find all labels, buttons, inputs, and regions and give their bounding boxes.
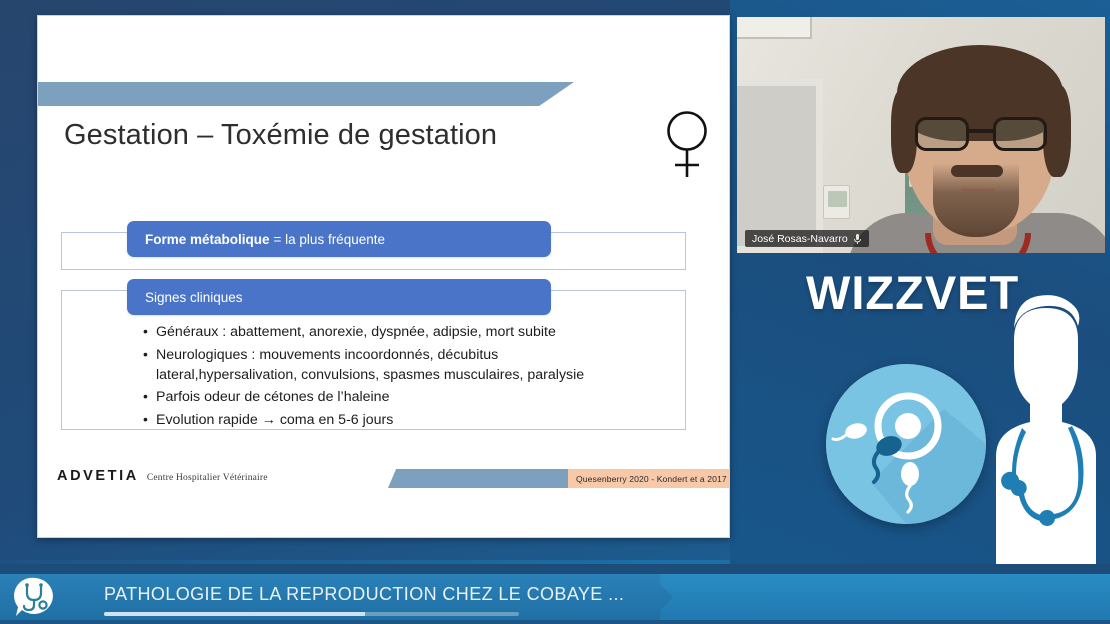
presentation-progress-bar[interactable] — [104, 612, 519, 616]
webcam-person-moustache — [951, 165, 1003, 177]
list-item: Parfois odeur de cétones de l’haleine — [143, 387, 623, 407]
stethoscope-speech-bubble-icon[interactable] — [14, 577, 56, 617]
microphone-icon — [853, 233, 862, 245]
webcam-name-label: José Rosas-Navarro — [745, 230, 869, 247]
presentation-slide[interactable]: Gestation – Toxémie de gestation Forme m… — [37, 15, 730, 538]
participant-name: José Rosas-Navarro — [752, 233, 848, 245]
venus-symbol-icon — [665, 110, 709, 180]
webcam-person-glasses — [915, 117, 1047, 151]
slide-citation: Quesenberry 2020 - Kondert et a 2017 — [388, 469, 730, 488]
list-item: Neurologiques : mouvements incoordonnés,… — [143, 345, 623, 385]
advetia-logo: ADVETIA Centre Hospitalier Vétérinaire — [57, 468, 268, 484]
advetia-logo-subtitle: Centre Hospitalier Vétérinaire — [147, 473, 268, 483]
badge-clinical-signs: Signes cliniques — [127, 279, 551, 315]
citation-text: Quesenberry 2020 - Kondert et a 2017 — [568, 469, 730, 488]
slide-title: Gestation – Toxémie de gestation — [64, 119, 497, 152]
badge-metabolic-form-rest: = la plus fréquente — [274, 232, 385, 247]
webcam-video-tile[interactable]: José Rosas-Navarro — [737, 17, 1105, 253]
badge-metabolic-form: Forme métabolique = la plus fréquente — [127, 221, 551, 257]
presentation-title-text: PATHOLOGIE DE LA REPRODUCTION CHEZ LE CO… — [104, 584, 624, 605]
list-item: Evolution rapide → coma en 5-6 jours — [143, 410, 623, 430]
advetia-logo-mark: ADVETIA — [57, 468, 139, 484]
veterinarian-silhouette-icon — [956, 278, 1110, 578]
badge-metabolic-form-bold: Forme métabolique — [145, 232, 270, 247]
list-item: Généraux : abattement, anorexie, dyspnée… — [143, 322, 623, 342]
webcam-door — [737, 79, 823, 253]
clinical-signs-bullet-list: Généraux : abattement, anorexie, dyspnée… — [143, 322, 623, 432]
webcam-thermostat — [823, 185, 850, 219]
badge-clinical-signs-label: Signes cliniques — [145, 290, 243, 305]
webcam-ceiling-panel — [737, 17, 812, 39]
bottom-bar-right-fill — [655, 574, 1110, 620]
citation-tail-shape — [388, 469, 568, 488]
bottom-title-bar: PATHOLOGIE DE LA REPRODUCTION CHEZ LE CO… — [0, 564, 1110, 624]
webcam-person-mouth — [961, 183, 995, 192]
progress-bar-fill — [104, 612, 365, 616]
slide-accent-banner — [38, 82, 574, 106]
